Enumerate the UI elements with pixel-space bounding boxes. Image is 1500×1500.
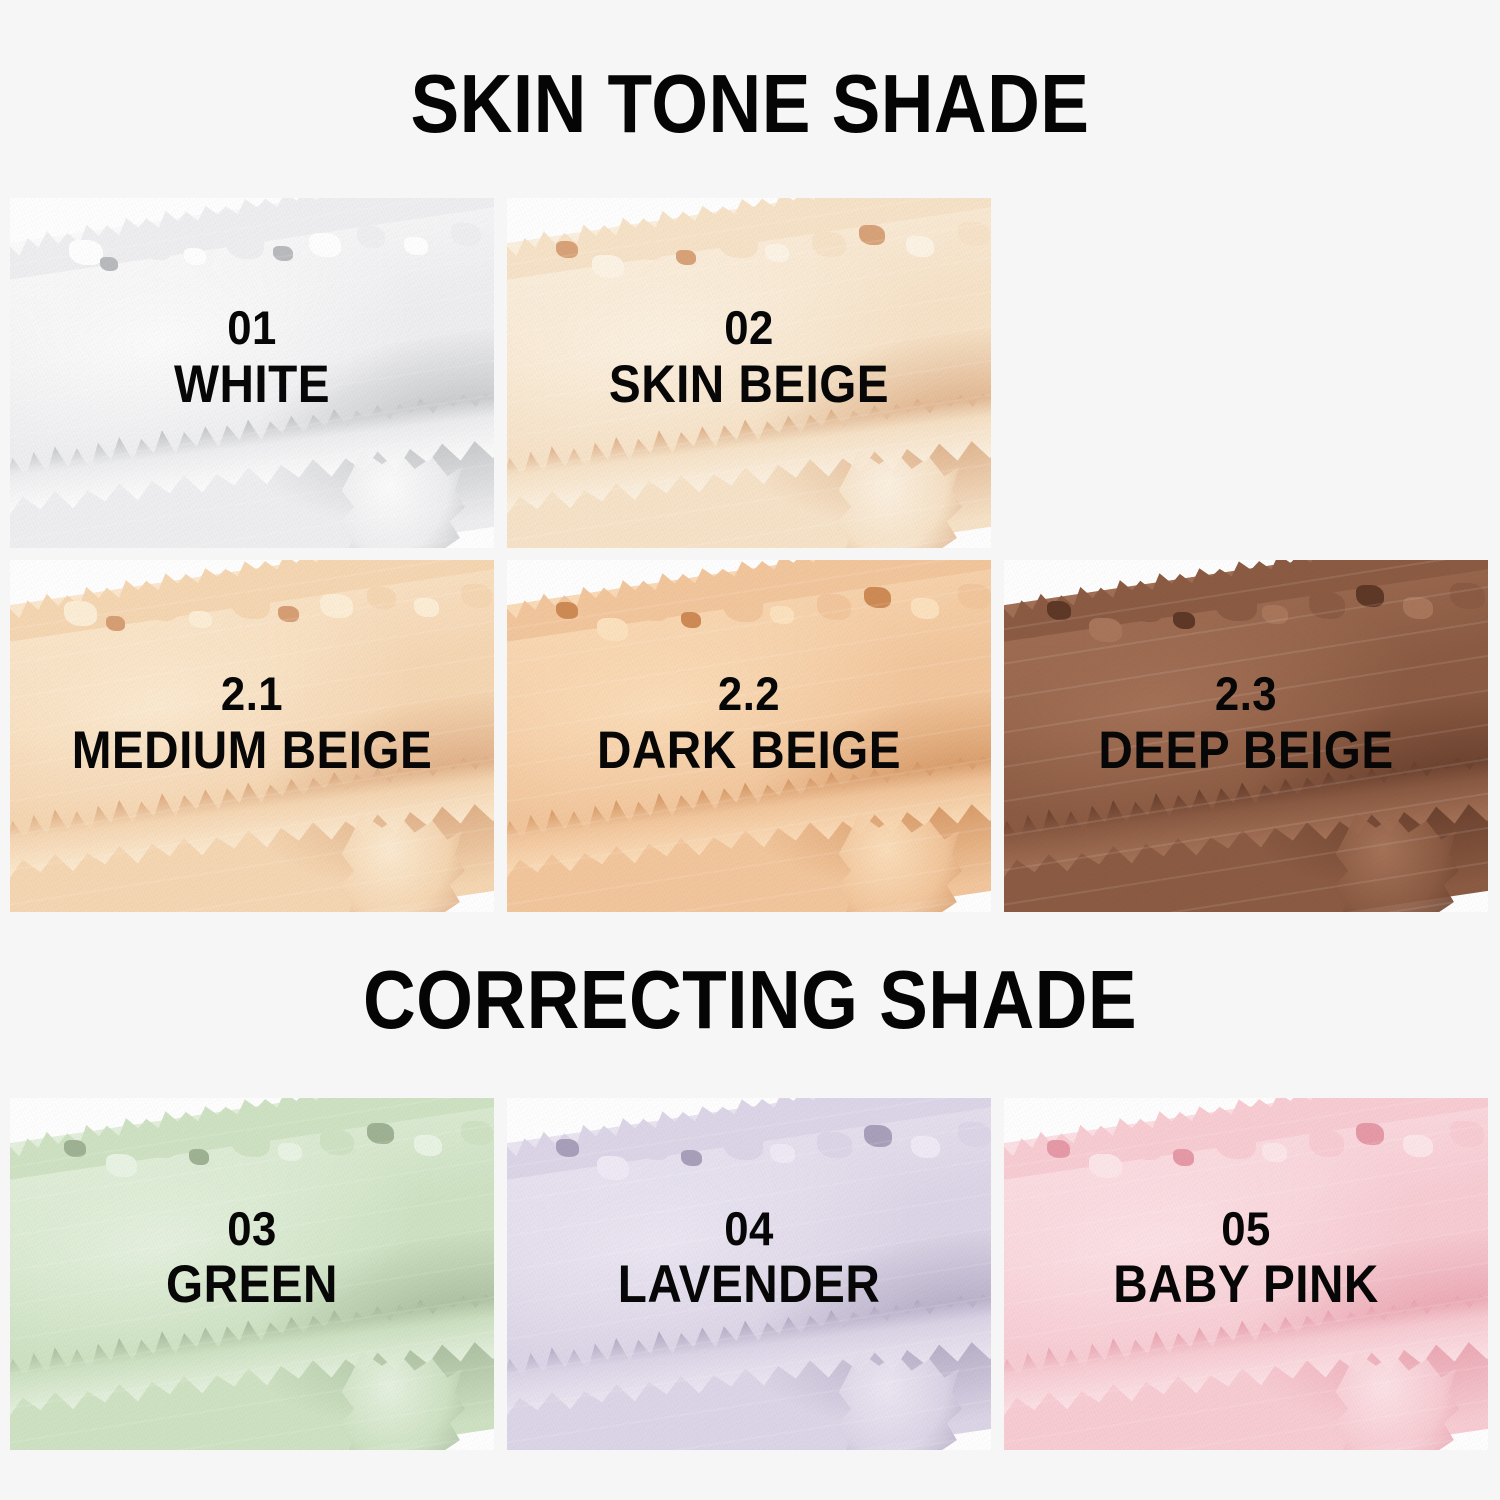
section-heading-skin-tone: SKIN TONE SHADE — [90, 62, 1410, 145]
swatch-tile-skin-beige[interactable]: 02 SKIN BEIGE — [507, 198, 991, 548]
swatch-tile-empty — [1004, 198, 1488, 548]
powder-chunks — [507, 219, 991, 289]
swatch-tile-deep-beige[interactable]: 2.3 DEEP BEIGE — [1004, 560, 1488, 912]
swatch-row-skin-tone-2: 2.1 MEDIUM BEIGE — [10, 560, 1490, 912]
powder-chunks — [507, 1119, 991, 1189]
powder-chunks — [10, 219, 494, 289]
swatch-tile-green[interactable]: 03 GREEN — [10, 1098, 494, 1450]
section-heading-correcting: CORRECTING SHADE — [90, 958, 1410, 1041]
powder-chunks — [10, 581, 494, 651]
swatch-row-skin-tone-1: 01 WHITE — [10, 198, 1490, 548]
swatch-tile-lavender[interactable]: 04 LAVENDER — [507, 1098, 991, 1450]
powder-chunks — [1004, 581, 1488, 651]
powder-chunks — [1004, 1119, 1488, 1189]
swatch-tile-white[interactable]: 01 WHITE — [10, 198, 494, 548]
powder-chunks — [10, 1119, 494, 1189]
powder-chunks — [507, 581, 991, 651]
swatch-tile-medium-beige[interactable]: 2.1 MEDIUM BEIGE — [10, 560, 494, 912]
swatch-row-correcting-1: 03 GREEN — [10, 1098, 1490, 1450]
shade-chart-page: SKIN TONE SHADE — [0, 0, 1500, 1500]
swatch-tile-dark-beige[interactable]: 2.2 DARK BEIGE — [507, 560, 991, 912]
swatch-tile-baby-pink[interactable]: 05 BABY PINK — [1004, 1098, 1488, 1450]
